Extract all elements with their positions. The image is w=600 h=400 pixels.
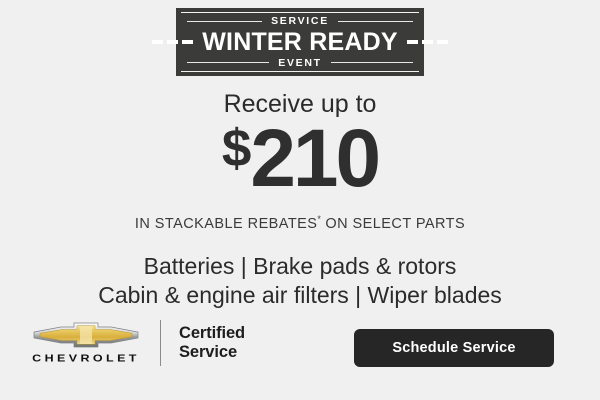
badge-kicker-top-row: SERVICE xyxy=(181,16,419,27)
eligible-parts-list: Batteries | Brake pads & rotors Cabin & … xyxy=(0,252,600,311)
badge-rule-left-bottom xyxy=(187,62,269,63)
chevrolet-logo: CHEVROLET xyxy=(30,321,142,365)
dashes-left-icon xyxy=(152,40,193,44)
certified-line-1: Certified xyxy=(179,324,245,343)
badge-rule-right-bottom xyxy=(331,62,413,63)
brand-divider xyxy=(160,320,161,366)
badge-rule-left-top xyxy=(187,21,262,22)
badge-kicker-bottom-row: EVENT xyxy=(181,58,419,69)
chevrolet-wordmark: CHEVROLET xyxy=(32,353,140,363)
rebate-text: IN STACKABLE REBATES xyxy=(135,216,318,232)
badge-inner-frame: SERVICE WINTER READY EVENT xyxy=(181,12,419,72)
badge-rule-right-top xyxy=(338,21,413,22)
badge-kicker-top: SERVICE xyxy=(262,16,338,27)
offer-amount: $210 xyxy=(0,118,600,200)
rebate-disclaimer-line: IN STACKABLE REBATES* ON SELECT PARTS xyxy=(0,215,600,231)
badge-title-row: WINTER READY xyxy=(181,30,419,55)
certified-service-label: Certified Service xyxy=(179,324,245,362)
chevrolet-bowtie-icon xyxy=(32,321,140,349)
parts-line-1: Batteries | Brake pads & rotors xyxy=(0,252,600,281)
badge-kicker-bottom: EVENT xyxy=(269,58,331,69)
schedule-service-button[interactable]: Schedule Service xyxy=(354,329,554,367)
rebate-text-suffix: ON SELECT PARTS xyxy=(321,216,465,232)
amount-value: 210 xyxy=(250,113,378,204)
promo-ad-banner: SERVICE WINTER READY EVENT Receive up to xyxy=(0,0,600,400)
brand-lockup: CHEVROLET Certified Service xyxy=(30,320,245,366)
certified-line-2: Service xyxy=(179,343,245,362)
winter-ready-event-badge: SERVICE WINTER READY EVENT xyxy=(176,8,424,76)
badge-title: WINTER READY xyxy=(202,30,397,55)
ad-footer: CHEVROLET Certified Service Schedule Ser… xyxy=(0,318,600,380)
parts-line-2: Cabin & engine air filters | Wiper blade… xyxy=(0,281,600,310)
dashes-right-icon xyxy=(407,40,448,44)
currency-symbol: $ xyxy=(222,119,250,178)
